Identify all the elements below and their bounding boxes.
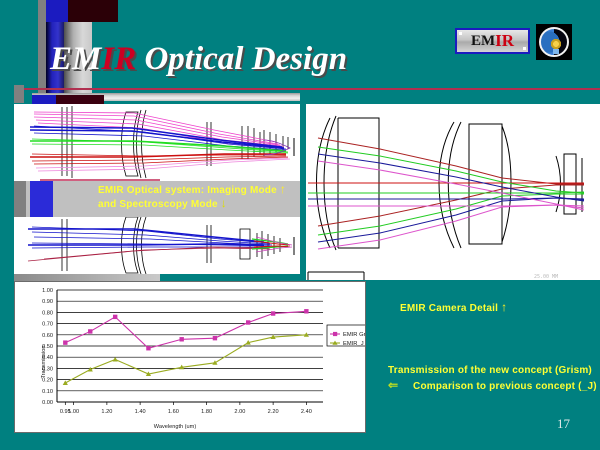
spectroscopy-raytrace-svg [14,217,300,275]
chart-data-marker [271,311,275,315]
chart-data-marker [146,346,150,350]
arrow-down-icon: ↓ [221,196,227,210]
callout-optical-line1-text: EMIR Optical system: Imaging Mode [98,185,277,196]
arrow-up-icon: ↑ [501,300,507,314]
chart-gridlines [57,290,323,402]
callout-optical-system: EMIR Optical system: Imaging Mode ↑ and … [98,183,286,211]
chart-y-tick: 1.00 [42,288,53,294]
chart-data-marker [63,380,68,385]
optical-layout-spectroscopy-mode [14,217,300,275]
chart-x-tick: 2.20 [268,409,279,415]
imaging-raytrace-svg [14,104,300,182]
transmission-chart-svg: 1.000.900.800.700.600.500.400.300.200.10… [15,282,365,432]
callout-camera-detail-text: EMIR Camera Detail [400,303,498,314]
decor-horizontal-darkred-block [56,95,104,104]
chart-series-layer [63,309,309,385]
chart-data-marker [213,336,217,340]
transmission-chart-panel: 1.000.900.800.700.600.500.400.300.200.10… [14,281,366,433]
chart-legend: EMIR GrismEMIR_J [327,325,365,347]
decor-vertical-gray-bar [38,0,46,99]
chart-x-tick: 1.00 [68,409,79,415]
decor-gray-tab [14,85,24,103]
decor-navy-block [46,0,68,22]
chart-y-tick: 0.10 [42,389,53,395]
title-part-em: EM [50,41,101,77]
chart-x-tick: 2.00 [234,409,245,415]
chart-x-tick: 1.80 [201,409,212,415]
chart-series-line [65,311,306,348]
decor-horizontal-navy-block [32,95,56,104]
decor-mid-blue-block [30,181,53,218]
chart-data-marker [246,320,250,324]
chart-legend-entry: EMIR Grism [343,332,365,338]
chart-y-tick: 0.80 [42,310,53,316]
chart-y-tick: 0.70 [42,322,53,328]
chart-series-line [65,335,306,383]
camera-scale-note: 25.00 MM [534,274,558,280]
page-number: 17 [557,416,570,432]
callout-optical-line1: EMIR Optical system: Imaging Mode ↑ [98,183,286,197]
chart-x-tick: 1.60 [168,409,179,415]
title-part-ir: IR [101,41,136,77]
chart-x-tick: 1.20 [101,409,112,415]
emir-logo: EMIR [455,28,530,54]
chart-data-marker [179,337,183,341]
chart-y-tick: 0.90 [42,299,53,305]
decor-mid-gray-tab [14,181,26,218]
callout-optical-line2-text: and Spectroscopy Mode [98,199,218,210]
page-title: EMIR Optical Design [50,43,347,76]
chart-data-marker [63,340,67,344]
title-part-rest: Optical Design [136,41,347,77]
chart-legend-entry: EMIR_J [343,341,364,347]
chart-data-marker [113,315,117,319]
chart-data-marker [304,309,308,313]
callout-transmission-line2-text: Comparison to previous concept (_J) [399,381,597,392]
chart-x-tick: 2.40 [301,409,312,415]
emir-logo-em-text: EM [471,33,495,50]
emir-logo-ir-text: IR [495,31,514,51]
camera-raytrace-svg: 25.00 MM [306,104,600,280]
slide-canvas: EMIR Optical Design EMIR [0,0,600,450]
seal-circle-icon [539,27,569,57]
arrow-left-icon: ⇐ [388,378,396,392]
iac-seal-logo [536,24,572,60]
chart-x-tick: 1.40 [135,409,146,415]
chart-y-axis-label: Transmission [41,345,47,378]
decor-darkred-block [68,0,118,22]
optical-layout-imaging-mode [14,104,300,182]
chart-x-tick-labels: 0.951.001.201.401.601.802.002.202.40 [60,402,312,415]
chart-data-marker [88,329,92,333]
chart-y-tick: 0.60 [42,333,53,339]
callout-transmission-line2: ⇐ Comparison to previous concept (_J) [388,378,597,394]
callout-optical-line2: and Spectroscopy Mode ↓ [98,197,286,211]
chart-y-tick: 0.00 [42,400,53,406]
callout-transmission-line1: Transmission of the new concept (Grism) [388,364,597,378]
callout-transmission: Transmission of the new concept (Grism) … [388,364,597,394]
decor-mid-pink-rule [40,179,160,181]
callout-camera-detail: EMIR Camera Detail ↑ [400,301,507,315]
decor-red-rule [14,88,600,90]
chart-x-axis-label: Wavelength (um) [154,424,197,430]
arrow-up-icon: ↑ [280,182,286,196]
camera-lens-layout: 25.00 MM [306,104,600,280]
